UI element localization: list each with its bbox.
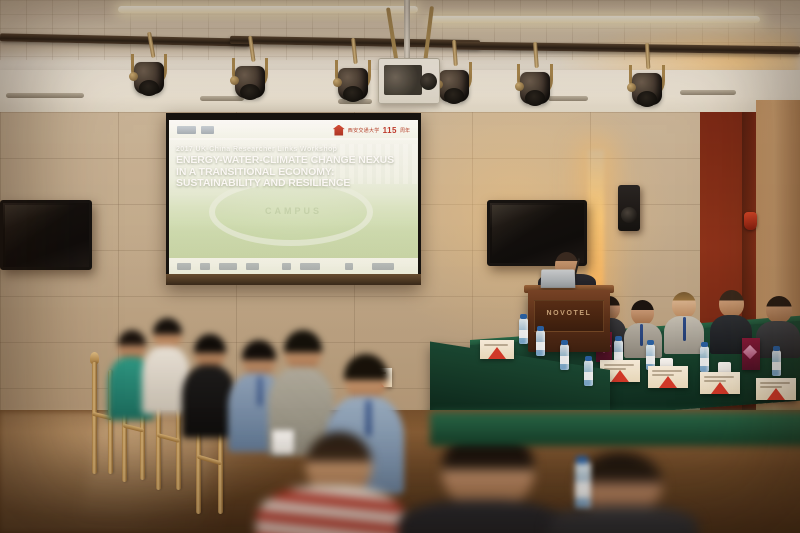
spotlight-lens [637,91,657,107]
spotlight-lens [444,88,464,104]
panelist-head [719,290,744,317]
name-card-text-line [484,344,508,346]
name-card-triangle-icon [767,388,785,400]
university-crest-icon [333,125,345,136]
bottle-cap [647,340,654,345]
audience-lanyard [366,400,371,436]
spotlight-knob [230,76,239,85]
name-card-triangle-icon [659,376,677,388]
anniversary-number: 115 [383,126,397,135]
foreground-water-bottle [575,462,591,508]
slide-title-block: 2017 UK-China Researcher Links Workshop … [176,146,414,190]
projection-screen: 西安交通大学 115 周年 CAMPUS 2017 UK-China Resea… [166,113,421,285]
name-card-triangle-icon [488,347,506,359]
bottle-cap [701,342,708,347]
foreground-tea-cup [272,430,294,454]
ceiling-led-strip-left [118,6,418,13]
name-card-triangle-icon [711,382,729,394]
water-bottle-4 [772,350,781,376]
name-card-text-line [704,376,734,378]
audience-head [153,318,182,349]
footer-logo-3 [219,263,237,270]
panelist-head [631,300,654,325]
footer-logo-1 [177,263,191,270]
bottle-cap [585,356,592,361]
university-logo-group: 西安交通大学 115 周年 [333,125,410,136]
conference-room-photo: 西安交通大学 115 周年 CAMPUS 2017 UK-China Resea… [0,0,800,533]
program-booklet-2 [742,338,760,370]
spotlight-knob [333,78,342,87]
photo-watermark-text: CAMPUS [169,206,418,216]
name-card-text-line [604,364,634,366]
name-card-triangle-icon [611,370,629,382]
bottle-label [575,482,591,498]
footer-logo-7 [345,263,353,270]
spotlight-6 [625,43,669,117]
soffit-slot-5 [680,90,736,95]
spotlight-knob [627,83,636,92]
spotlight-lens [525,90,545,106]
water-bottle-7 [560,344,569,370]
bottle-label [536,342,545,350]
panelist-lanyard [640,324,643,346]
spotlight-lens [343,86,363,102]
slide-header-banner: 西安交通大学 115 周年 [169,120,418,140]
bottle-label [700,358,709,366]
foreground-attendee-right [548,452,698,533]
foreground-striped-shirt [256,486,406,533]
bottle-label [560,356,569,364]
wall-tv-left [0,200,92,270]
panelist-head [766,296,792,323]
spotlight-1 [127,32,171,106]
slide-title-line-3: SUSTAINABILITY AND RESILIENCE [176,178,414,190]
anniversary-suffix: 周年 [400,127,410,134]
water-bottle-6 [536,330,545,356]
bottle-label [614,352,623,360]
partner-logo-2 [201,126,214,134]
partner-logo-1 [177,126,196,134]
name-card-text-line [652,370,682,372]
booklet-emblem-icon [743,345,757,359]
name-card-5 [480,340,514,359]
bottle-label [772,362,781,370]
bottle-label [584,372,593,380]
foreground-body [398,500,566,533]
footer-logo-2 [200,263,210,270]
spotlight-knob [129,72,138,81]
spotlight-3 [331,38,375,112]
name-card-text-line [760,382,790,384]
water-bottle-3 [700,346,709,372]
projector-body [384,65,422,95]
panelist-head [672,292,696,318]
university-name-cn: 西安交通大学 [348,127,380,134]
ceiling-projector [378,58,440,104]
spotlight-5 [513,42,557,116]
slide-canvas: 西安交通大学 115 周年 CAMPUS 2017 UK-China Resea… [169,120,418,275]
name-card-2 [648,366,688,388]
slide-eyebrow: 2017 UK-China Researcher Links Workshop [176,146,414,153]
water-bottle-5 [519,318,528,344]
speaker-grill-icon [621,207,637,223]
slide-footer-logos [169,258,418,275]
water-bottle-8 [584,360,593,386]
name-card-3 [700,372,740,394]
screen-bottom-casing [166,274,421,285]
panelist-2 [624,300,662,358]
bottle-cap [576,456,588,464]
bottle-cap [537,326,544,331]
bottle-cap [773,346,780,351]
audience-head [284,330,322,370]
bottle-label [646,356,655,364]
spotlight-lens [139,80,159,96]
spotlight-knob [515,82,524,91]
chair-post [92,362,97,474]
bottle-label [519,330,528,338]
slide-title-line-1: ENERGY-WATER-CLIMATE CHANGE NEXUS [176,155,414,167]
foreground-table-edge [430,412,800,446]
foreground-body [548,506,698,533]
tv-screen-sheen [5,205,87,265]
audience-lanyard [258,376,262,406]
panelist-body [624,323,662,358]
projector-lens-icon [420,73,437,90]
audience-head [194,334,226,368]
podium-brand-label: NOVOTEL [528,310,610,317]
panelist-lanyard [683,317,686,341]
spotlight-lens [240,84,260,100]
soffit-slot-1 [6,93,84,98]
presenter-laptop [541,269,576,287]
alarm-bell-icon [744,212,757,230]
footer-logo-8 [372,263,394,270]
bottle-cap [561,340,568,345]
projector-mount-rod [404,0,410,60]
footer-logo-5 [282,263,291,270]
name-card-4 [756,378,796,400]
bottle-cap [615,336,622,341]
footer-logo-6 [300,263,320,270]
audience-head [344,354,388,400]
panelist-3 [664,292,704,354]
wall-speaker [618,185,640,231]
bottle-cap [520,314,527,319]
spotlight-2 [228,36,272,110]
footer-logo-4 [246,263,259,270]
slide-partner-logos [177,126,214,134]
